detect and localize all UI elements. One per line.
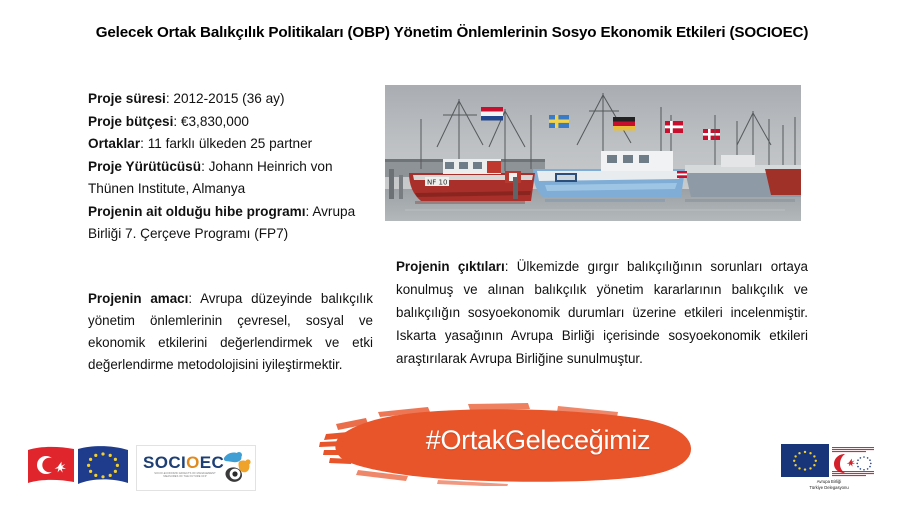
info-duration-value: : 2012-2015 (36 ay) (166, 91, 285, 106)
socioec-logo: SOCIOEC SOCIO-ECONOMIC EFFECTS OF MANAGE… (136, 445, 256, 491)
delegation-caption-line2: Türkiye Delegasyonu (781, 485, 877, 491)
slide-canvas: Gelecek Ortak Balıkçılık Politikaları (O… (0, 0, 900, 506)
project-info-block: Proje süresi: 2012-2015 (36 ay) Proje bü… (88, 88, 373, 246)
hashtag-text: #OrtakGeleceğimiz (388, 422, 688, 458)
info-budget-value: : €3,830,000 (173, 114, 249, 129)
flag-denmark-1 (665, 121, 683, 133)
info-budget-label: Proje bütçesi (88, 114, 173, 129)
turkey-republic-emblem-icon (829, 444, 877, 477)
project-aim-paragraph: Projenin amacı: Avrupa düzeyinde balıkçı… (88, 288, 373, 376)
eu-delegation-flags (781, 444, 879, 477)
socioec-mark-icon (220, 449, 252, 490)
info-partners: Ortaklar: 11 farklı ülkeden 25 partner (88, 133, 373, 156)
project-outputs-label: Projenin çıktıları (396, 259, 505, 274)
socioec-subtitle: SOCIO-ECONOMIC EFFECTS OF MANAGEMENT MEA… (151, 472, 219, 479)
flag-sweden (549, 115, 569, 128)
info-budget: Proje bütçesi: €3,830,000 (88, 111, 373, 134)
eu-flag-small-icon (781, 444, 829, 477)
project-outputs-paragraph: Projenin çıktıları: Ülkemizde gırgır bal… (396, 255, 808, 370)
info-partners-label: Ortaklar (88, 136, 140, 151)
eu-flag-icon (76, 444, 130, 493)
socioec-wordmark: SOCIOEC (143, 453, 224, 473)
fishing-boats-photo: NF 10 (385, 85, 801, 221)
project-aim-label: Projenin amacı (88, 291, 188, 306)
delegation-caption: Avrupa Birliği Türkiye Delegasyonu (781, 479, 877, 490)
info-coordinator: Proje Yürütücüsü: Johann Heinrich von Th… (88, 156, 373, 201)
info-duration: Proje süresi: 2012-2015 (36 ay) (88, 88, 373, 111)
info-coordinator-label: Proje Yürütücüsü (88, 159, 201, 174)
info-partners-value: : 11 farklı ülkeden 25 partner (140, 136, 312, 151)
eu-delegation-logo: Avrupa Birliği Türkiye Delegasyonu (781, 444, 879, 494)
turkey-flag-icon (26, 444, 76, 493)
hashtag-banner: #OrtakGeleceğimiz (318, 402, 696, 486)
project-outputs-text: : Ülkemizde gırgır balıkçılığının sorunl… (396, 259, 808, 366)
info-duration-label: Proje süresi (88, 91, 166, 106)
flag-germany (613, 117, 635, 131)
flag-denmark-2 (703, 129, 720, 140)
socioec-word-part2: O (186, 453, 200, 472)
socioec-word-part1: SOCI (143, 453, 186, 472)
page-title: Gelecek Ortak Balıkçılık Politikaları (O… (62, 22, 842, 44)
flag-netherlands (481, 107, 503, 121)
info-programme-label: Projenin ait olduğu hibe programı (88, 204, 306, 219)
svg-text:NF 10: NF 10 (427, 179, 447, 187)
info-programme: Projenin ait olduğu hibe programı: Avrup… (88, 201, 373, 246)
footer-logos-left: SOCIOEC SOCIO-ECONOMIC EFFECTS OF MANAGE… (26, 441, 256, 495)
